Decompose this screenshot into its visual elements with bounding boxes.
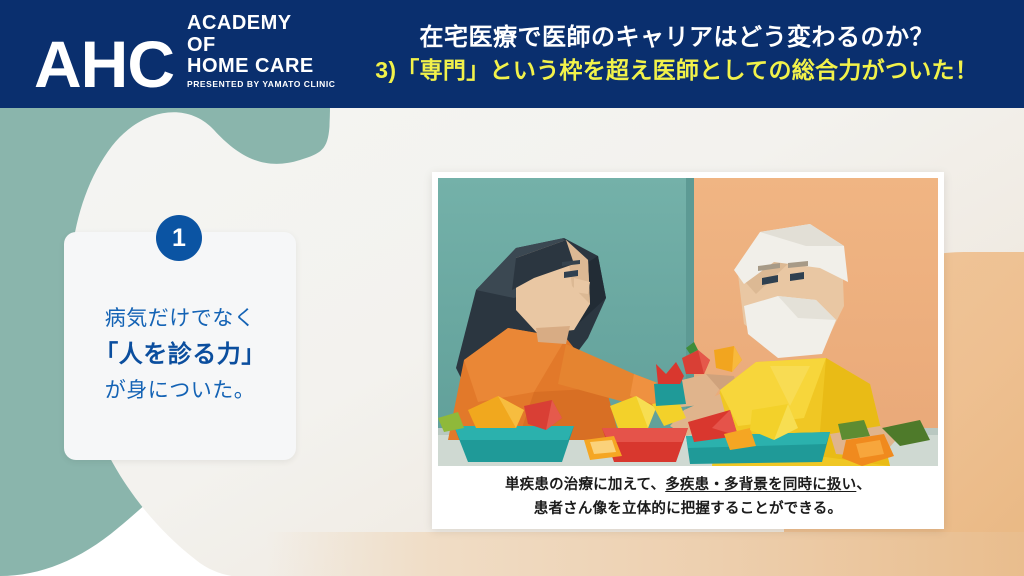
caption-line-1: 単疾患の治療に加えて、多疾患・多背景を同時に扱い、 — [505, 474, 871, 497]
photo-card: 単疾患の治療に加えて、多疾患・多背景を同時に扱い、 患者さん像を立体的に把握する… — [432, 172, 944, 529]
slide-canvas: AHC ACADEMY OF HOME CARE PRESENTED BY YA… — [0, 0, 1024, 576]
illustration-image — [438, 178, 938, 466]
low-poly-illustration — [438, 178, 938, 466]
header-title-secondary: 3)「専門」という枠を超え医師としての総合力がついた！ — [339, 55, 1014, 86]
logo-tagline: PRESENTED BY YAMATO CLINIC — [187, 80, 335, 89]
header-bar: AHC ACADEMY OF HOME CARE PRESENTED BY YA… — [0, 0, 1024, 108]
caption-line-2: 患者さん像を立体的に把握することができる。 — [534, 498, 842, 521]
logo-subtitle: ACADEMY OF HOME CARE PRESENTED BY YAMATO… — [187, 13, 335, 89]
logo-line-home-care: HOME CARE — [187, 56, 335, 78]
caption-line-1-plain-b: 、 — [856, 477, 871, 493]
photo-caption: 単疾患の治療に加えて、多疾患・多背景を同時に扱い、 患者さん像を立体的に把握する… — [438, 466, 938, 529]
ahc-logo: AHC ACADEMY OF HOME CARE PRESENTED BY YA… — [34, 13, 335, 95]
statement-text: 病気だけでなく 「人を診る力」 が身についた。 — [94, 302, 266, 409]
statement-line-1: 病気だけでなく — [94, 302, 266, 336]
header-title-primary: 在宅医療で医師のキャリアはどう変わるのか？ — [339, 22, 1014, 53]
logo-wordmark: AHC — [34, 34, 174, 95]
caption-line-1-underlined: 多疾患・多背景を同時に扱い — [665, 477, 856, 493]
header-title-group: 在宅医療で医師のキャリアはどう変わるのか？ 3)「専門」という枠を超え医師として… — [339, 22, 1014, 86]
caption-line-1-plain-a: 単疾患の治療に加えて、 — [505, 477, 665, 493]
statement-line-2: 「人を診る力」 — [94, 336, 266, 375]
logo-line-academy: ACADEMY — [187, 13, 335, 35]
logo-line-of: OF — [187, 35, 335, 57]
statement-card: 病気だけでなく 「人を診る力」 が身についた。 — [64, 232, 296, 460]
statement-line-3: が身についた。 — [94, 374, 266, 408]
step-number-badge: 1 — [156, 215, 202, 261]
